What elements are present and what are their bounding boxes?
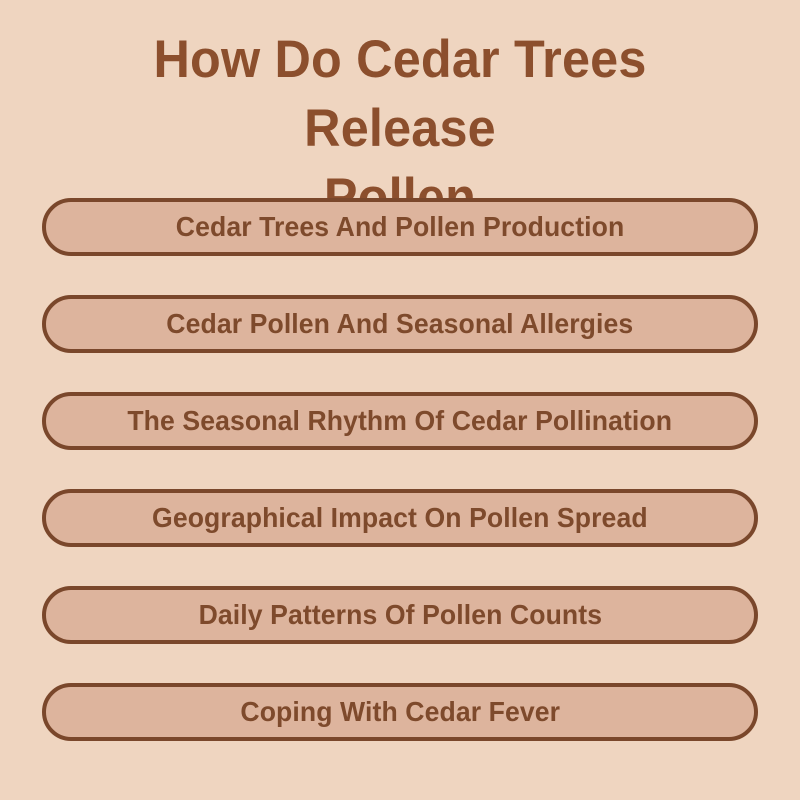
topic-pill-1[interactable]: Cedar Trees And Pollen Production	[42, 198, 758, 256]
topic-pill-label: The Seasonal Rhythm Of Cedar Pollination	[111, 407, 690, 435]
topic-pill-label: Daily Patterns Of Pollen Counts	[181, 601, 619, 629]
topic-pill-list: Cedar Trees And Pollen Production Cedar …	[42, 198, 758, 741]
topic-pill-4[interactable]: Geographical Impact On Pollen Spread	[42, 489, 758, 547]
topic-pill-label: Coping With Cedar Fever	[223, 698, 577, 726]
topic-pill-5[interactable]: Daily Patterns Of Pollen Counts	[42, 586, 758, 644]
topic-pill-label: Cedar Trees And Pollen Production	[159, 213, 642, 241]
topic-pill-2[interactable]: Cedar Pollen And Seasonal Allergies	[42, 295, 758, 353]
topic-pill-label: Cedar Pollen And Seasonal Allergies	[149, 310, 650, 338]
infographic-poster: How Do Cedar Trees Release Pollen Cedar …	[0, 0, 800, 800]
topic-pill-3[interactable]: The Seasonal Rhythm Of Cedar Pollination	[42, 392, 758, 450]
topic-pill-6[interactable]: Coping With Cedar Fever	[42, 683, 758, 741]
topic-pill-label: Geographical Impact On Pollen Spread	[135, 504, 665, 532]
